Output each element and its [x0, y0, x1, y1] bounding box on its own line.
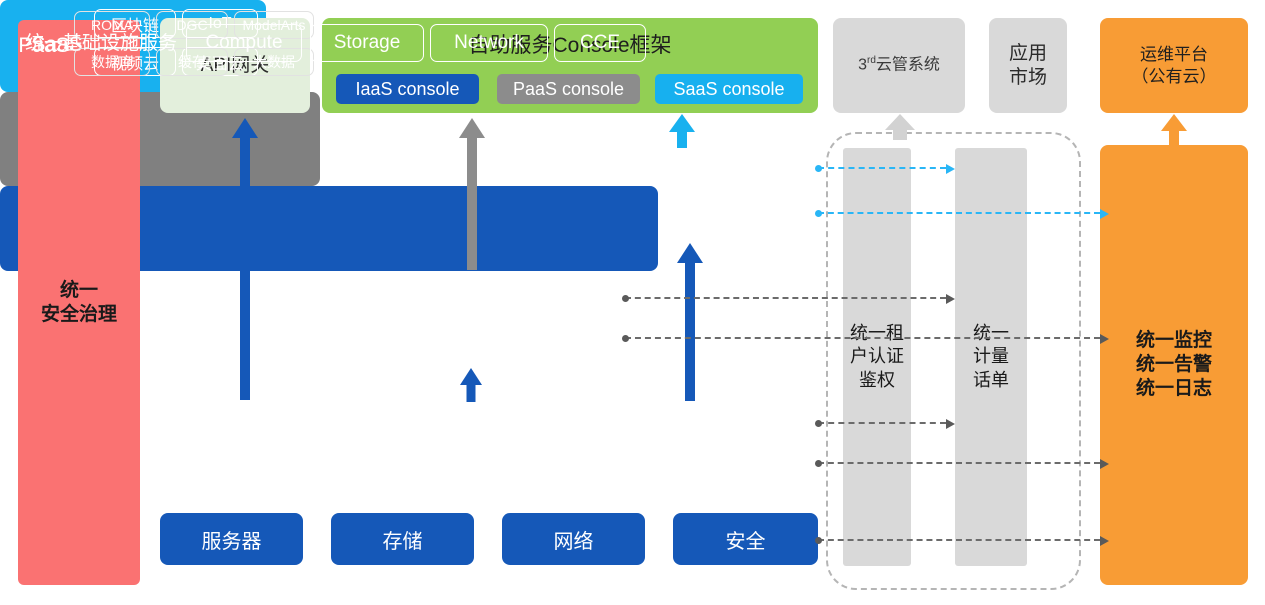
arrow-saas-to-console: [668, 114, 696, 148]
unified-security-governance-panel: 统一 安全治理: [18, 20, 140, 585]
dashed-saas-to-auth: [818, 167, 946, 169]
arrow-to-ops-platform: [1160, 114, 1188, 146]
connector-dot: [815, 165, 822, 172]
arrow-shaft: [467, 384, 476, 402]
dashed-iaas-to-auth: [818, 422, 946, 424]
arrow-iaas-to-paas: [459, 368, 483, 402]
iaas-chip-storage[interactable]: Storage: [310, 24, 424, 62]
dashed-iaas-to-ops: [818, 462, 1100, 464]
iaas-console-chip[interactable]: IaaS console: [336, 74, 479, 104]
arrow-head: [677, 243, 703, 263]
arrow-paas-to-console: [458, 118, 486, 270]
arrow-head: [459, 118, 485, 138]
third-party-cloud-management-box: 3rd云管系统: [833, 18, 965, 113]
connector-arrowhead: [1100, 334, 1109, 344]
iaas-chip-cce[interactable]: CCE: [554, 24, 646, 62]
arrow-shaft: [685, 261, 695, 401]
app-market-box: 应用 市场: [989, 18, 1067, 113]
connector-arrowhead: [946, 294, 955, 304]
connector-arrowhead: [946, 164, 955, 174]
arrow-head: [1161, 114, 1187, 131]
dashed-paas-to-auth: [625, 297, 946, 299]
iaas-chip-network[interactable]: Network: [430, 24, 548, 62]
arrow-head: [232, 118, 258, 138]
iaas-layer-label: 统一基础设施服务: [16, 28, 186, 55]
hardware-box-security[interactable]: 安全: [673, 513, 818, 565]
arrow-shaft: [893, 128, 907, 140]
dashed-hardware-to-ops: [818, 539, 1100, 541]
arrow-shaft: [240, 136, 250, 400]
arrow-shared-to-third-party: [885, 114, 915, 140]
hardware-box-network[interactable]: 网络: [502, 513, 645, 565]
architecture-diagram: 统一 安全治理 API网关 自助服务Console框架 IaaS console…: [0, 0, 1265, 605]
connector-dot: [815, 537, 822, 544]
unified-monitoring-alarm-log-panel: 统一监控 统一告警 统一日志: [1100, 145, 1248, 585]
connector-dot: [622, 335, 629, 342]
connector-arrowhead: [1100, 209, 1109, 219]
ops-platform-public-cloud-box: 运维平台 （公有云）: [1100, 18, 1248, 113]
connector-dot: [815, 420, 822, 427]
shared-column-tenant-auth: 统一租 户认证 鉴权: [843, 148, 911, 566]
arrow-shaft: [1169, 130, 1179, 146]
dashed-paas-to-ops: [625, 337, 1100, 339]
arrow-shaft: [677, 130, 687, 148]
shared-column-metering-billing: 统一 计量 话单: [955, 148, 1027, 566]
connector-arrowhead: [1100, 536, 1109, 546]
iaas-chip-compute[interactable]: Compute: [186, 24, 302, 62]
arrow-iaas-to-saas: [676, 243, 704, 401]
third-party-label: 3rd云管系统: [858, 55, 940, 75]
arrow-head: [460, 368, 482, 385]
connector-arrowhead: [1100, 459, 1109, 469]
hardware-box-server[interactable]: 服务器: [160, 513, 303, 565]
connector-dot: [815, 210, 822, 217]
saas-console-chip[interactable]: SaaS console: [655, 74, 803, 104]
connector-dot: [622, 295, 629, 302]
arrow-iaas-to-api-gateway: [231, 118, 259, 400]
dashed-saas-to-ops: [818, 212, 1100, 214]
paas-console-chip[interactable]: PaaS console: [497, 74, 640, 104]
connector-dot: [815, 460, 822, 467]
hardware-box-storage[interactable]: 存储: [331, 513, 474, 565]
arrow-shaft: [467, 136, 477, 270]
connector-arrowhead: [946, 419, 955, 429]
